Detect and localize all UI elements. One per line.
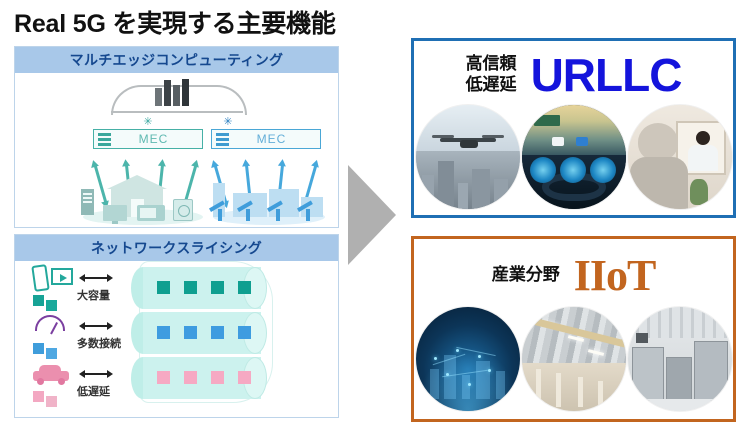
urllc-jp-line2: 低遅延 — [466, 75, 517, 96]
iiot-acronym: IIoT — [574, 250, 656, 301]
mapping-arrow-icon — [79, 321, 113, 331]
factory-robots-scene — [207, 179, 331, 225]
right-triangle-arrow-icon — [348, 165, 396, 265]
iiot-heading: 産業分野 IIoT — [414, 249, 733, 301]
panel-iiot[interactable]: 産業分野 IIoT — [411, 236, 736, 422]
urllc-jp-label: 高信頼 低遅延 — [466, 54, 517, 95]
urllc-heading: 高信頼 低遅延 URLLC — [414, 49, 733, 101]
robot-arm-icon — [269, 203, 287, 221]
link-spark-icon-right: ✳ — [223, 117, 233, 127]
autonomous-car-dashboard-photo — [522, 105, 626, 209]
gauge-dial-icon — [35, 315, 65, 331]
server-rack-icon — [216, 133, 229, 146]
urllc-photo-row — [414, 105, 733, 209]
tablet-icon — [137, 205, 165, 221]
robot-arm-icon — [299, 203, 317, 221]
mec-node-home[interactable]: MEC — [93, 129, 203, 149]
smart-city-network-photo — [416, 307, 520, 411]
mec-diagram: ✳ ✳ MEC MEC — [15, 73, 338, 227]
home-devices-scene — [77, 179, 209, 225]
server-rack-icon — [98, 133, 111, 146]
cylinder-slice-massive-connectivity — [143, 312, 267, 354]
card-header-network-slicing: ネットワークスライシング — [15, 235, 338, 261]
robot-arm-icon — [239, 203, 257, 221]
slice-color-dots — [33, 295, 73, 313]
panel-urllc[interactable]: 高信頼 低遅延 URLLC — [411, 38, 736, 218]
drone-over-city-photo — [416, 105, 520, 209]
slice-label-massive-connectivity: 多数接続 — [77, 335, 121, 351]
cylinder-slice-high-capacity — [143, 267, 267, 309]
card-multi-edge-computing[interactable]: マルチエッジコンピューティング ✳ ✳ MEC MEC — [14, 46, 339, 228]
network-slicing-diagram: 大容量 多数接続 — [15, 261, 338, 417]
network-slice-cylinder — [143, 267, 293, 409]
card-header-multi-edge-computing: マルチエッジコンピューティング — [15, 47, 338, 73]
telemedicine-consultation-photo — [628, 105, 732, 209]
car-icon — [31, 361, 77, 391]
slice-label-high-capacity: 大容量 — [77, 287, 110, 303]
cylinder-slice-low-latency — [143, 357, 267, 399]
smartphone-video-icon — [31, 265, 77, 295]
mec-node-factory[interactable]: MEC — [211, 129, 321, 149]
mapping-arrow-icon — [79, 369, 113, 379]
link-spark-icon-left: ✳ — [143, 117, 153, 127]
cloud-base-line — [111, 111, 243, 113]
mec-node-label: MEC — [229, 132, 320, 146]
video-play-icon — [51, 268, 73, 285]
urllc-jp-line1: 高信頼 — [466, 54, 517, 75]
page-title: Real 5G を実現する主要機能 — [14, 4, 336, 40]
urllc-acronym: URLLC — [531, 48, 682, 102]
left-feature-column: マルチエッジコンピューティング ✳ ✳ MEC MEC — [14, 46, 339, 418]
warehouse-interior-photo — [522, 307, 626, 411]
card-network-slicing[interactable]: ネットワークスライシング 大容量 — [14, 234, 339, 418]
mec-node-label: MEC — [111, 132, 202, 146]
slice-color-dots — [33, 391, 73, 409]
monitor-icon — [103, 205, 127, 221]
slice-color-dots — [33, 343, 73, 361]
mapping-arrow-icon — [79, 273, 113, 283]
robot-arm-icon — [211, 203, 229, 221]
car-shape-icon — [33, 365, 69, 385]
datacenter-servers-icon — [155, 79, 189, 106]
iiot-photo-row — [414, 307, 733, 411]
slice-label-low-latency: 低遅延 — [77, 383, 110, 399]
industrial-machinery-photo — [628, 307, 732, 411]
iiot-jp-label: 産業分野 — [492, 265, 560, 286]
washing-machine-icon — [173, 199, 193, 221]
gauge-icon — [31, 313, 77, 343]
desktop-pc-icon — [81, 189, 94, 215]
smartphone-icon — [31, 264, 49, 292]
